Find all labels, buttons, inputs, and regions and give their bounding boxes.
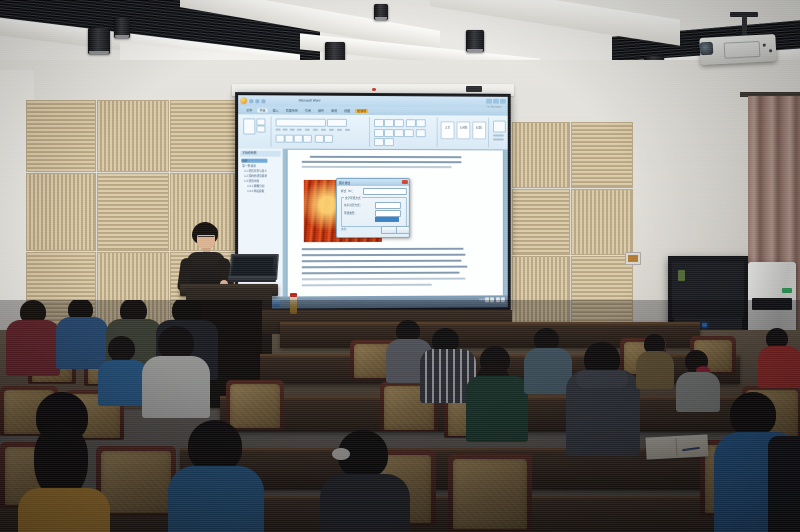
- nav-pane-header: 文档结构图: [240, 151, 280, 157]
- document-text-line: [302, 248, 464, 250]
- dialog-field-label-3: 环绕类型：: [344, 211, 357, 215]
- maximize-icon: [493, 99, 499, 104]
- document-page-area[interactable]: 图片属性 样式（S）： 文字环绕方式 水平对齐方式： 环绕类型： 大小：: [283, 149, 508, 297]
- redo-icon[interactable]: [261, 99, 265, 103]
- text-color-icon[interactable]: [315, 135, 324, 143]
- ribbon[interactable]: 正文 无间隔 标题1: [238, 114, 508, 150]
- jacket-sleeve: [768, 436, 800, 532]
- document-text-line: [302, 266, 468, 269]
- nav-item-2[interactable]: 1.1 研究背景与意义: [244, 169, 267, 173]
- ribbon-group-styles[interactable]: 正文 无间隔 标题1: [439, 117, 489, 147]
- office-orb-icon[interactable]: [240, 97, 247, 104]
- acoustic-panel: [97, 100, 169, 172]
- dialog-field-label-2: 水平对齐方式：: [344, 203, 362, 207]
- ceiling-downlight-2: [114, 18, 130, 38]
- paste-icon[interactable]: [243, 118, 255, 134]
- dialog-close-icon[interactable]: [402, 180, 408, 184]
- tab-review[interactable]: 审阅: [329, 109, 339, 113]
- hoodie-hood: [576, 370, 628, 388]
- dialog-field-label-1: 样式（S）：: [341, 189, 354, 193]
- justify-icon[interactable]: [404, 129, 414, 137]
- style-normal[interactable]: 正文: [441, 121, 455, 139]
- dialog-selected-option[interactable]: [375, 217, 399, 222]
- multilevel-icon[interactable]: [394, 119, 404, 127]
- wall-outlet-plate[interactable]: [625, 252, 641, 265]
- tab-view[interactable]: 视图: [342, 109, 352, 113]
- audience-area: [0, 300, 800, 532]
- shading-icon[interactable]: [374, 138, 384, 146]
- ribbon-group-editing[interactable]: [490, 118, 508, 148]
- document-text-line: [302, 254, 466, 257]
- undo-icon[interactable]: [255, 99, 259, 103]
- document-text-line: [310, 156, 462, 158]
- increase-indent-icon[interactable]: [416, 119, 426, 127]
- dialog-wrap-select[interactable]: [375, 210, 401, 217]
- dialog-style-input[interactable]: [363, 188, 407, 195]
- ceiling-downlight-6: [374, 4, 388, 20]
- window-controls[interactable]: [486, 99, 506, 104]
- acoustic-panel: [97, 173, 169, 251]
- nav-item-5[interactable]: 1.3.1 图像分割: [247, 184, 264, 188]
- tab-home[interactable]: 开始: [257, 108, 267, 112]
- strikethrough-icon[interactable]: [303, 135, 312, 143]
- close-icon: [500, 99, 506, 104]
- align-left-icon[interactable]: [374, 129, 384, 137]
- borders-icon[interactable]: [384, 138, 394, 146]
- picture-properties-dialog[interactable]: 图片属性 样式（S）： 文字环绕方式 水平对齐方式： 环绕类型： 大小：: [336, 178, 410, 238]
- chair: [101, 451, 171, 513]
- document-text-line: [302, 272, 460, 275]
- ribbon-group-paragraph[interactable]: [371, 117, 438, 147]
- bold-icon[interactable]: [276, 135, 285, 143]
- chair: [453, 459, 527, 529]
- acoustic-panel: [26, 100, 96, 172]
- bullets-icon[interactable]: [374, 119, 384, 127]
- dialog-ok-button[interactable]: [381, 226, 397, 234]
- find-icon[interactable]: [493, 121, 506, 133]
- align-center-icon[interactable]: [384, 129, 394, 137]
- presenter-glasses: [198, 236, 214, 240]
- document-text-line: [302, 166, 452, 168]
- window-title: Microsoft Word: [299, 99, 321, 103]
- ribbon-group-font[interactable]: [273, 116, 370, 146]
- presenter-laptop-base: [228, 276, 277, 282]
- acoustic-panel: [512, 189, 570, 255]
- tab-layout[interactable]: 页面布局: [284, 109, 300, 113]
- presenter-fringe: [193, 225, 218, 235]
- acoustic-panel: [571, 122, 633, 188]
- document-text-line: [302, 260, 462, 263]
- dialog-footer-label: 大小：: [341, 227, 349, 231]
- italic-icon[interactable]: [285, 135, 294, 143]
- dialog-title: 图片属性: [339, 180, 350, 184]
- projector-lens: [700, 42, 714, 56]
- nav-item-0[interactable]: 摘要: [242, 159, 247, 163]
- dialog-title-bar: 图片属性: [337, 179, 409, 186]
- acoustic-panel-wall-right: [512, 122, 634, 324]
- tab-mail[interactable]: 邮件: [316, 109, 326, 113]
- tab-insert[interactable]: 插入: [271, 108, 281, 112]
- dialog-align-select[interactable]: [375, 202, 401, 209]
- chair: [230, 384, 280, 428]
- ribbon-group-clipboard[interactable]: [240, 116, 271, 146]
- document-text-line: [302, 161, 462, 163]
- line-spacing-icon[interactable]: [416, 129, 426, 137]
- underline-icon[interactable]: [294, 135, 303, 143]
- screen-brand-label: V-Screen: [487, 105, 502, 109]
- style-heading1[interactable]: 标题1: [472, 121, 486, 139]
- tab-addins[interactable]: 加载项: [355, 109, 368, 113]
- ceiling-downlight-1: [88, 28, 110, 54]
- align-right-icon[interactable]: [394, 129, 404, 137]
- copy-icon[interactable]: [256, 125, 265, 132]
- laptop-screen: [232, 257, 273, 275]
- save-icon[interactable]: [249, 99, 253, 103]
- cut-icon[interactable]: [256, 118, 265, 125]
- hair-clip: [332, 448, 350, 460]
- style-nospacing[interactable]: 无间隔: [456, 121, 470, 139]
- acoustic-panel: [26, 173, 96, 251]
- nav-item-4[interactable]: 1.3 研究内容: [244, 179, 259, 183]
- minimize-icon: [486, 99, 492, 104]
- rack-label-sticker: [678, 270, 685, 281]
- tab-refs[interactable]: 引用: [303, 109, 313, 113]
- water-bottle-cap: [290, 293, 297, 297]
- lecture-hall-photo: Microsoft Word 文件 开始 插入 页面布局 引用 邮件 审阅 视图…: [0, 0, 800, 532]
- decrease-indent-icon[interactable]: [406, 119, 416, 127]
- nav-item-6[interactable]: 1.3.2 特征提取: [247, 189, 264, 193]
- acoustic-panel: [512, 122, 570, 188]
- dialog-cancel-button[interactable]: [396, 226, 410, 234]
- acoustic-panel: [170, 100, 242, 172]
- screen-mount-bracket: [466, 86, 482, 92]
- nav-item-1[interactable]: 第一章 绪论: [242, 164, 256, 168]
- ac-badge: [782, 288, 792, 293]
- projection-screen-surface: Microsoft Word 文件 开始 插入 页面布局 引用 邮件 审阅 视图…: [238, 95, 508, 309]
- highlight-icon[interactable]: [324, 135, 333, 143]
- document-paper[interactable]: 图片属性 样式（S）： 文字环绕方式 水平对齐方式： 环绕类型： 大小：: [288, 150, 503, 297]
- tab-file[interactable]: 文件: [244, 108, 254, 112]
- quick-access-toolbar[interactable]: [240, 97, 265, 104]
- ceiling-downlight-4: [466, 30, 484, 52]
- font-family-selector[interactable]: [276, 119, 326, 127]
- document-text-line: [302, 278, 466, 281]
- font-size-selector[interactable]: [327, 119, 347, 127]
- dialog-group-label: 文字环绕方式: [344, 196, 362, 200]
- nav-item-3[interactable]: 1.2 国内外研究现状: [244, 174, 267, 178]
- screen-status-led: [372, 88, 376, 91]
- acoustic-panel: [571, 189, 633, 255]
- numbering-icon[interactable]: [384, 119, 394, 127]
- document-text-line: [302, 284, 432, 287]
